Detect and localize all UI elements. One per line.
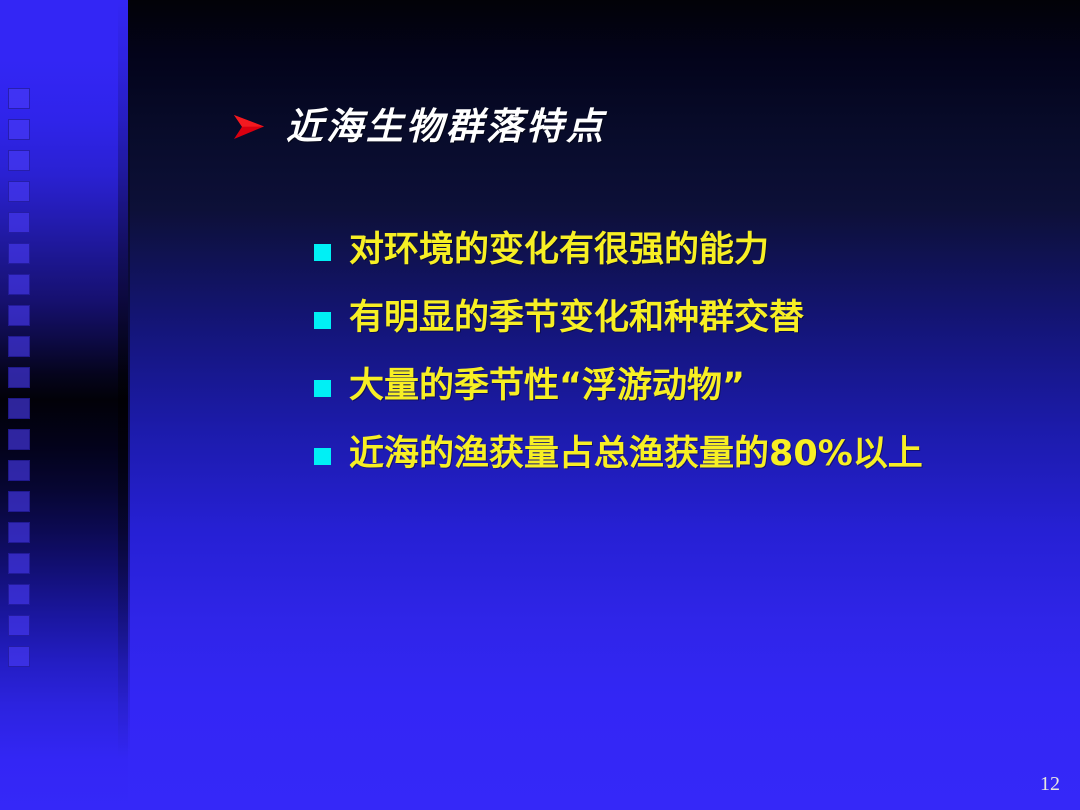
sidebar-square — [8, 212, 30, 233]
sidebar-square — [8, 553, 30, 574]
sidebar-square — [8, 646, 30, 667]
sidebar-square — [8, 615, 30, 636]
sidebar-square — [8, 88, 30, 109]
cyan-square-bullet-icon — [314, 380, 331, 397]
sidebar-square — [8, 274, 30, 295]
sidebar-square-column — [8, 88, 30, 677]
list-item-label: 有明显的季节变化和种群交替 — [349, 299, 804, 338]
sidebar-square — [8, 460, 30, 481]
sidebar-square — [8, 522, 30, 543]
bullet-list: 对环境的变化有很强的能力 有明显的季节变化和种群交替 大量的季节性“浮游动物” … — [314, 216, 1034, 488]
presentation-slide: 近海生物群落特点 对环境的变化有很强的能力 有明显的季节变化和种群交替 大量的季… — [0, 0, 1080, 810]
slide-title: 近海生物群落特点 — [286, 108, 606, 145]
sidebar-square — [8, 491, 30, 512]
sidebar-square — [8, 398, 30, 419]
cyan-square-bullet-icon — [314, 312, 331, 329]
sidebar-square — [8, 305, 30, 326]
list-item: 有明显的季节变化和种群交替 — [314, 284, 1034, 352]
list-item-label: 大量的季节性“浮游动物” — [349, 367, 745, 406]
list-item-label: 对环境的变化有很强的能力 — [349, 231, 769, 270]
cyan-square-bullet-icon — [314, 244, 331, 261]
list-item: 大量的季节性“浮游动物” — [314, 352, 1034, 420]
cyan-square-bullet-icon — [314, 448, 331, 465]
sidebar-square — [8, 150, 30, 171]
decorative-sidebar — [0, 0, 128, 810]
sidebar-square — [8, 243, 30, 264]
sidebar-square — [8, 181, 30, 202]
sidebar-square — [8, 367, 30, 388]
list-item: 近海的渔获量占总渔获量的80%以上 — [314, 420, 1034, 488]
page-number: 12 — [1040, 774, 1060, 794]
red-arrow-bullet-icon — [232, 112, 266, 142]
list-item: 对环境的变化有很强的能力 — [314, 216, 1034, 284]
sidebar-square — [8, 336, 30, 357]
sidebar-square — [8, 429, 30, 450]
sidebar-square — [8, 584, 30, 605]
list-item-label: 近海的渔获量占总渔获量的80%以上 — [349, 435, 923, 474]
sidebar-seam-shadow — [118, 0, 130, 810]
slide-title-row: 近海生物群落特点 — [232, 108, 606, 145]
sidebar-square — [8, 119, 30, 140]
